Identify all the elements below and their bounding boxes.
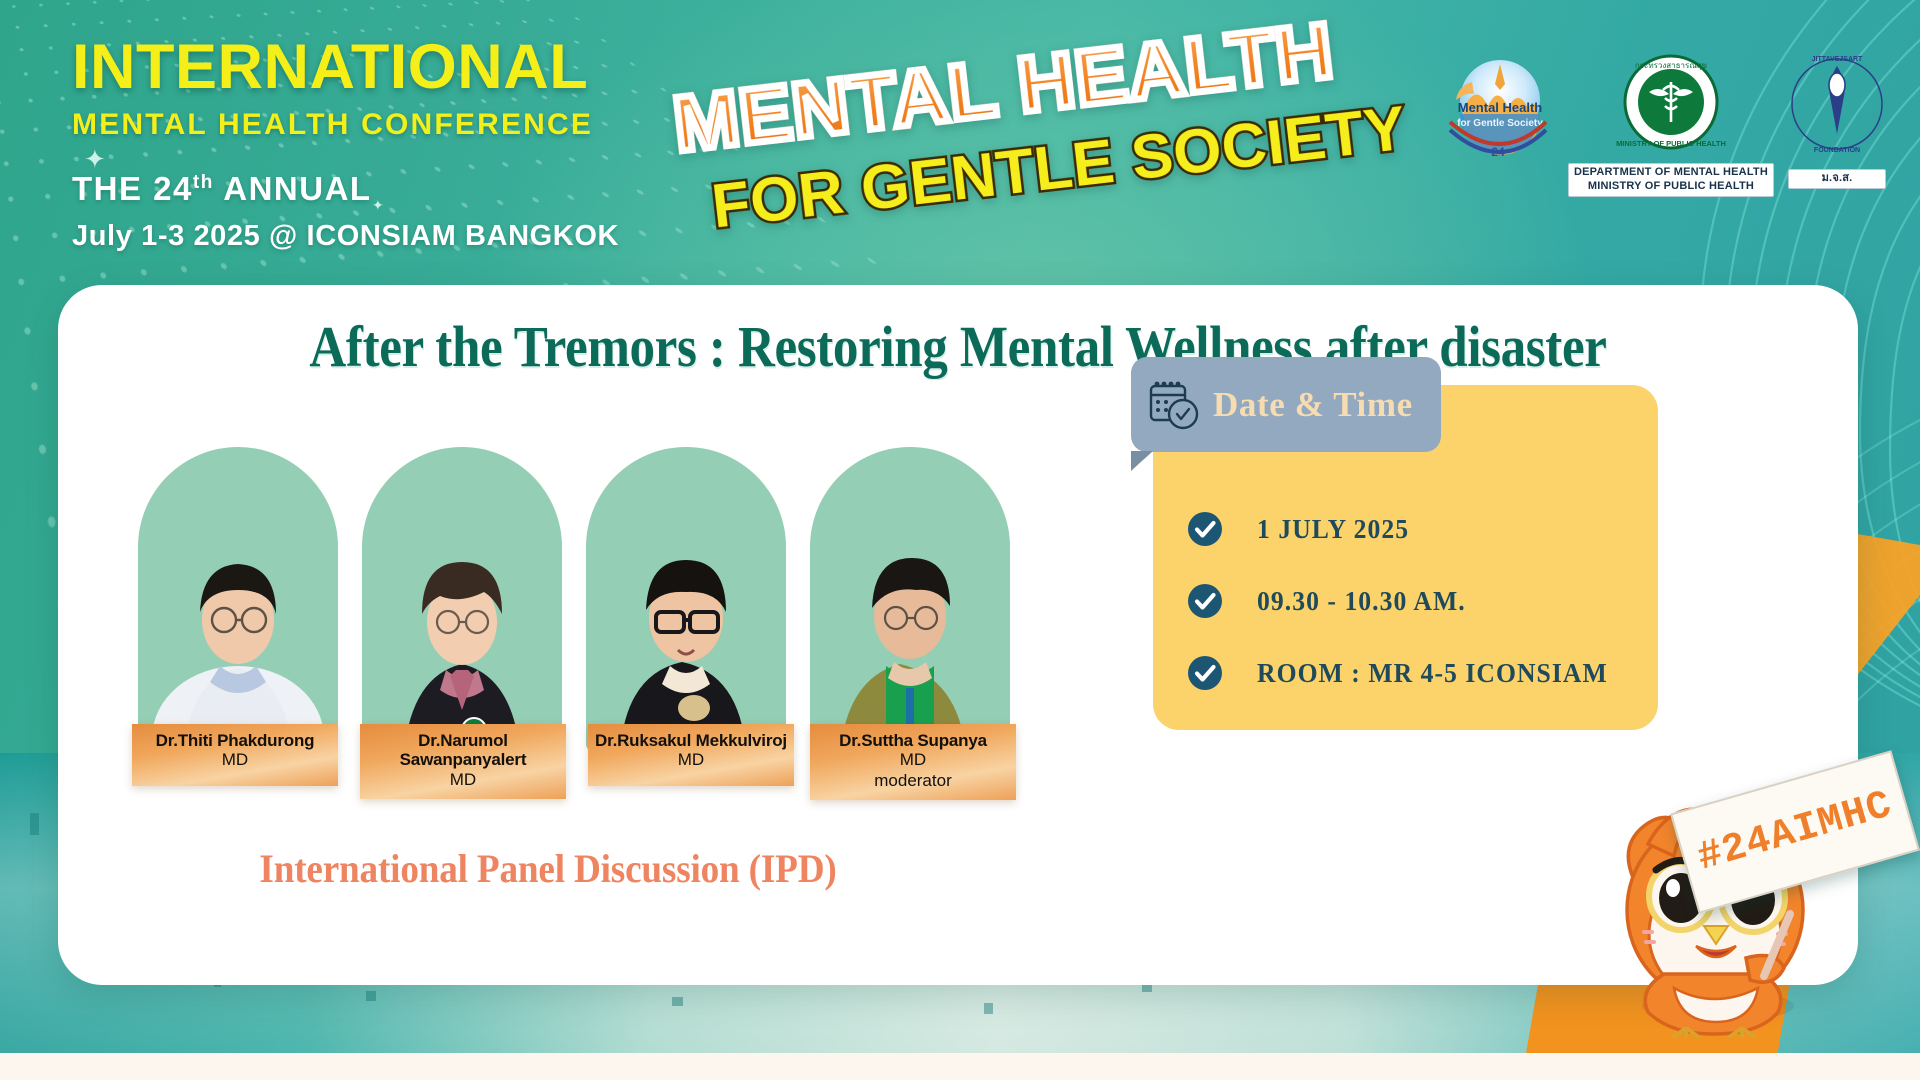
speaker-portrait-frame — [138, 447, 338, 752]
mental-health-for-gentle-society-logo: Mental Health for Gentle Society 24 — [1442, 52, 1554, 169]
speaker-photo — [138, 494, 338, 752]
speaker-card: Dr.Ruksakul Mekkulviroj MD — [586, 447, 786, 786]
speaker-portrait-frame — [362, 447, 562, 752]
speaker-card: Dr.Thiti Phakdurong MD — [138, 447, 338, 786]
speaker-name: Dr.Ruksakul Mekkulviroj — [594, 731, 788, 750]
conference-title-main: INTERNATIONAL — [72, 36, 619, 99]
speaker-nameplate: Dr.Thiti Phakdurong MD — [132, 724, 338, 786]
date-time-items: 1 JULY 2025 09.30 - 10.30 AM. ROOM : MR … — [1187, 493, 1640, 709]
svg-text:กระทรวงสาธารณสุข: กระทรวงสาธารณสุข — [1635, 61, 1707, 70]
logo-row: Mental Health for Gentle Society 24 — [1442, 52, 1886, 197]
edition-ordinal: th — [193, 172, 214, 193]
speaker-photo — [586, 494, 786, 752]
svg-text:for Gentle Society: for Gentle Society — [1457, 118, 1543, 129]
speaker-credential: MD — [594, 750, 788, 770]
speaker-portrait-frame — [810, 447, 1010, 752]
check-circle-icon — [1187, 511, 1223, 547]
speaker-list: Dr.Thiti Phakdurong MD — [138, 447, 1010, 800]
speaker-credential: MD — [138, 750, 332, 770]
check-circle-icon — [1187, 655, 1223, 691]
svg-text:FOUNDATION: FOUNDATION — [1814, 147, 1860, 154]
conference-title-sub: MENTAL HEALTH CONFERENCE — [72, 108, 619, 142]
speaker-card: Dr.Narumol Sawanpanyalert MD — [362, 447, 562, 799]
date-time-row: ROOM : MR 4-5 ICONSIAM — [1187, 637, 1640, 709]
date-time-ribbon: Date & Time — [1131, 357, 1441, 452]
footer-strip — [0, 1053, 1920, 1080]
theme-lockup: MENTAL HEALTH FOR GENTLE SOCIETY — [660, 40, 1420, 210]
speaker-card: Dr.Suttha Supanya MD moderator — [810, 447, 1010, 800]
date-value: 1 JULY 2025 — [1257, 514, 1409, 545]
session-title: After the Tremors : Restoring Mental Wel… — [166, 313, 1750, 380]
date-time-panel: Date & Time 1 JULY 2025 09.30 - 10.30 AM… — [1153, 385, 1658, 730]
speaker-credential: MD — [816, 750, 1010, 770]
jittavejsart-songkrao-foundation-logo: JITTAVEJSART FOUNDATION ม.จ.ส. — [1788, 52, 1886, 189]
speaker-photo — [810, 494, 1010, 752]
speaker-name: Dr.Narumol Sawanpanyalert — [366, 731, 560, 770]
speaker-name: Dr.Suttha Supanya — [816, 731, 1010, 750]
conference-edition: THE 24th ANNUAL — [72, 170, 619, 208]
date-time-row: 09.30 - 10.30 AM. — [1187, 565, 1640, 637]
date-time-heading: Date & Time — [1213, 385, 1413, 425]
room-value: ROOM : MR 4-5 ICONSIAM — [1257, 658, 1608, 689]
edition-suffix: ANNUAL — [223, 170, 371, 207]
speaker-photo — [362, 494, 562, 752]
check-circle-icon — [1187, 583, 1223, 619]
edition-prefix: THE 24 — [72, 170, 193, 207]
ministry-logo-caption: DEPARTMENT OF MENTAL HEALTH MINISTRY OF … — [1568, 163, 1774, 197]
ministry-of-public-health-logo: กระทรวงสาธารณสุข MINISTRY OF PUBLIC HEAL… — [1568, 52, 1774, 197]
speaker-nameplate: Dr.Ruksakul Mekkulviroj MD — [588, 724, 794, 786]
svg-text:MINISTRY OF PUBLIC HEALTH: MINISTRY OF PUBLIC HEALTH — [1616, 139, 1726, 148]
foundation-logo-caption: ม.จ.ส. — [1788, 169, 1886, 189]
conference-date-venue: July 1-3 2025 @ ICONSIAM BANGKOK — [72, 220, 619, 253]
date-time-row: 1 JULY 2025 — [1187, 493, 1640, 565]
calendar-clock-icon — [1147, 377, 1203, 433]
speaker-role: moderator — [816, 771, 1010, 791]
svg-text:24: 24 — [1491, 145, 1505, 159]
svg-text:JITTAVEJSART: JITTAVEJSART — [1812, 56, 1863, 63]
time-value: 09.30 - 10.30 AM. — [1257, 586, 1466, 617]
speaker-nameplate: Dr.Suttha Supanya MD moderator — [810, 724, 1016, 800]
svg-text:Mental Health: Mental Health — [1458, 100, 1543, 115]
header-text-block: INTERNATIONAL MENTAL HEALTH CONFERENCE T… — [72, 36, 619, 253]
speaker-nameplate: Dr.Narumol Sawanpanyalert MD — [360, 724, 566, 799]
speaker-name: Dr.Thiti Phakdurong — [138, 731, 332, 750]
panel-discussion-label: International Panel Discussion (IPD) — [204, 845, 892, 892]
conference-session-poster: ✦ ✦ ✦ ✦ ✦ ✦ INTERNATIONAL MENTAL HEALTH … — [0, 0, 1920, 1080]
speaker-portrait-frame — [586, 447, 786, 752]
speaker-credential: MD — [366, 770, 560, 790]
